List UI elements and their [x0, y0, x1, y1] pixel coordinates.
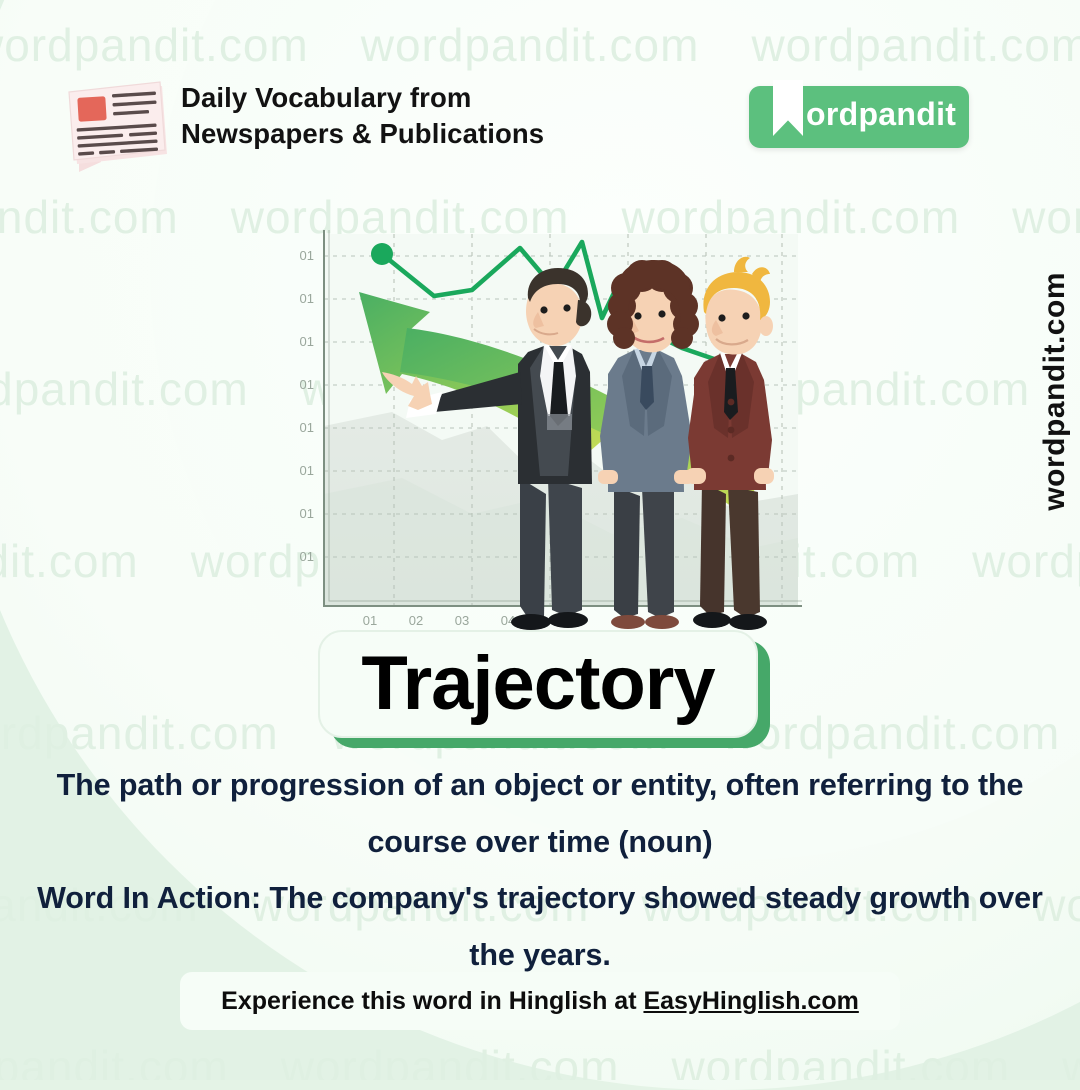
wordpandit-logo[interactable]: ordpandit: [749, 86, 969, 148]
logo-label: ordpandit: [806, 96, 956, 133]
easyhinglish-link[interactable]: EasyHinglish.com: [643, 987, 858, 1015]
svg-text:02: 02: [409, 613, 423, 628]
word-term: Trajectory: [361, 646, 714, 722]
bookmark-icon: [773, 80, 803, 136]
side-url-label: wordpandit.com: [1038, 272, 1072, 511]
chart-illustration: 01 01 01 01 01 01 01 01 01 02 03 04: [282, 226, 812, 646]
footer-text: Experience this word in Hinglish at Easy…: [221, 987, 859, 1016]
svg-text:01: 01: [300, 248, 314, 263]
newspaper-icon: [57, 76, 175, 176]
svg-text:01: 01: [300, 334, 314, 349]
x-axis-labels: 01 02 03 04: [363, 613, 515, 628]
svg-text:01: 01: [300, 291, 314, 306]
trend-line-start-marker: [371, 243, 393, 265]
svg-text:01: 01: [300, 549, 314, 564]
svg-text:01: 01: [300, 377, 314, 392]
svg-text:01: 01: [300, 463, 314, 478]
svg-text:01: 01: [300, 506, 314, 521]
word-box: Trajectory: [318, 630, 758, 738]
footer-prefix: Experience this word in Hinglish at: [221, 987, 643, 1015]
page-title: Daily Vocabulary from Newspapers & Publi…: [181, 80, 544, 152]
y-axis-labels: 01 01 01 01 01 01 01 01: [300, 248, 314, 564]
svg-text:01: 01: [363, 613, 377, 628]
svg-text:03: 03: [455, 613, 469, 628]
word-usage: Word In Action: The company's trajectory…: [0, 870, 1080, 983]
svg-text:01: 01: [300, 420, 314, 435]
header: Daily Vocabulary from Newspapers & Publi…: [0, 62, 1080, 172]
footer-bar[interactable]: Experience this word in Hinglish at Easy…: [180, 972, 900, 1030]
word-definition: The path or progression of an object or …: [0, 757, 1080, 870]
header-title-line1: Daily Vocabulary from: [181, 80, 544, 116]
header-title-line2: Newspapers & Publications: [181, 116, 544, 152]
